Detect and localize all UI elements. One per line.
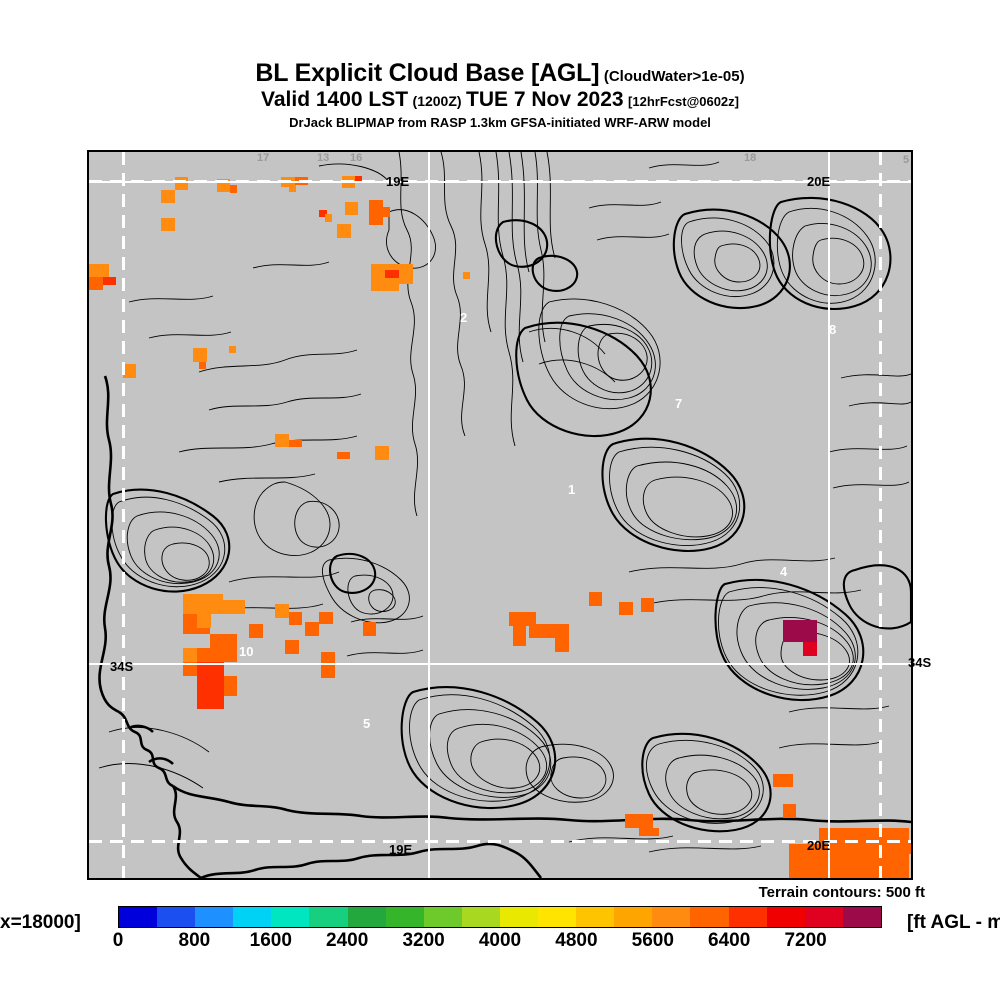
colorbar-tick-800: 800 xyxy=(179,930,211,952)
faint-label-13: 13 xyxy=(317,152,329,164)
cloud-cell xyxy=(197,614,211,628)
title-cloudwater-threshold: (CloudWater>1e-05) xyxy=(604,68,745,85)
colorbar-right-text: [ft AGL - m xyxy=(907,912,1000,934)
cloud-cell xyxy=(249,624,263,638)
colorbar-tick-4800: 4800 xyxy=(555,930,597,952)
site-label-10: 10 xyxy=(239,644,253,659)
colorbar-segment-11 xyxy=(538,907,576,927)
cloud-cell xyxy=(369,200,383,225)
cloud-cell xyxy=(289,440,302,447)
cloud-cell xyxy=(639,828,659,836)
cloud-cell xyxy=(161,218,175,231)
domain-box-left xyxy=(122,152,125,878)
valid-time-utc: (1200Z) xyxy=(413,93,462,109)
colorbar-segment-6 xyxy=(348,907,386,927)
domain-box-bottom xyxy=(89,840,911,843)
cloud-cell xyxy=(305,622,319,636)
cloud-cell xyxy=(641,598,654,612)
cloud-cell xyxy=(375,446,389,460)
cloud-cell xyxy=(103,277,116,285)
cloud-cell xyxy=(555,638,569,652)
cloud-cell xyxy=(161,190,175,203)
cloud-cell xyxy=(773,774,793,787)
cloud-cell xyxy=(385,270,399,278)
cloud-cell xyxy=(183,594,223,614)
faint-label-18: 18 xyxy=(744,152,756,164)
cloud-cell xyxy=(819,828,909,878)
cloud-cell xyxy=(210,634,237,648)
colorbar-tick-7200: 7200 xyxy=(784,930,826,952)
cloud-cell xyxy=(337,224,351,238)
title-line-1: BL Explicit Cloud Base [AGL] (CloudWater… xyxy=(0,60,1000,86)
forecast-run-info: [12hrFcst@0602z] xyxy=(628,94,739,109)
colorbar-segment-14 xyxy=(652,907,690,927)
cloud-cell xyxy=(175,177,188,190)
cloud-cell xyxy=(229,346,236,353)
cloud-cell xyxy=(183,648,197,662)
cloud-cell xyxy=(783,620,817,642)
faint-label-16: 16 xyxy=(350,152,362,164)
cloud-cell xyxy=(619,602,633,615)
cloud-cell xyxy=(197,662,224,696)
cloud-cell xyxy=(89,277,103,290)
colorbar-segment-5 xyxy=(309,907,347,927)
colorbar-segment-10 xyxy=(500,907,538,927)
cloud-cell xyxy=(230,185,237,193)
cloud-cell xyxy=(589,592,602,606)
map-frame[interactable]: 17 13 16 18 5 19E 20E 19E 20E 2 7 8 1 4 … xyxy=(87,150,913,880)
colorbar-tick-1600: 1600 xyxy=(250,930,292,952)
colorbar-segment-15 xyxy=(690,907,728,927)
cloud-cell xyxy=(289,185,296,192)
cloud-cell xyxy=(275,434,289,447)
site-label-2: 2 xyxy=(460,310,467,325)
cloud-cell xyxy=(197,696,224,709)
site-label-1: 1 xyxy=(568,482,575,497)
colorbar-tick-3200: 3200 xyxy=(402,930,444,952)
cloud-cell xyxy=(509,612,536,626)
cloud-cell xyxy=(463,272,470,279)
colorbar-tick-5600: 5600 xyxy=(632,930,674,952)
colorbar-segment-17 xyxy=(767,907,805,927)
domain-box-top xyxy=(89,180,911,183)
title-block: BL Explicit Cloud Base [AGL] (CloudWater… xyxy=(0,60,1000,130)
graticule-label-19E-bottom: 19E xyxy=(389,842,412,857)
colorbar-segment-12 xyxy=(576,907,614,927)
colorbar-segment-7 xyxy=(386,907,424,927)
faint-label-5: 5 xyxy=(903,154,909,166)
colorbar-segment-9 xyxy=(462,907,500,927)
site-label-7: 7 xyxy=(675,396,682,411)
colorbar-tick-2400: 2400 xyxy=(326,930,368,952)
map-canvas xyxy=(89,152,911,878)
site-label-4: 4 xyxy=(780,564,787,579)
cloud-cell xyxy=(193,348,207,362)
title-line-2: Valid 1400 LST (1200Z) TUE 7 Nov 2023 [1… xyxy=(0,88,1000,112)
colorbar-segment-0 xyxy=(119,907,157,927)
graticule-label-20E-bottom: 20E xyxy=(807,838,830,853)
model-attribution: DrJack BLIPMAP from RASP 1.3km GFSA-init… xyxy=(0,115,1000,130)
domain-box-right xyxy=(879,152,882,878)
cloud-cell xyxy=(783,804,796,818)
cloud-cell xyxy=(529,624,569,638)
colorbar-segment-13 xyxy=(614,907,652,927)
cloud-cell xyxy=(285,640,299,654)
cloud-cell xyxy=(383,207,390,217)
colorbar-segment-4 xyxy=(271,907,309,927)
valid-time-local: Valid 1400 LST xyxy=(261,88,408,111)
graticule-label-19E-top: 19E xyxy=(386,174,409,189)
page-title: BL Explicit Cloud Base [AGL] xyxy=(255,59,599,87)
colorbar-segment-18 xyxy=(805,907,843,927)
colorbar-tick-4000: 4000 xyxy=(479,930,521,952)
colorbar-segment-16 xyxy=(729,907,767,927)
colorbar-tick-labels: 080016002400320040004800560064007200 xyxy=(118,930,882,954)
cloud-cell xyxy=(89,264,109,277)
cloud-cell xyxy=(901,842,911,854)
colorbar-segment-3 xyxy=(233,907,271,927)
site-label-5: 5 xyxy=(363,716,370,731)
cloud-cell xyxy=(371,284,399,291)
colorbar-left-text: x=18000] xyxy=(0,912,81,934)
colorbar[interactable] xyxy=(118,906,882,928)
colorbar-segment-19 xyxy=(843,907,881,927)
colorbar-segment-2 xyxy=(195,907,233,927)
cloud-cell xyxy=(345,202,358,215)
cloud-cell xyxy=(319,612,333,624)
cloud-cell xyxy=(224,676,237,696)
colorbar-segment-8 xyxy=(424,907,462,927)
site-label-8: 8 xyxy=(829,322,836,337)
latitude-label-34S-right: 34S xyxy=(908,655,931,670)
cloud-cell xyxy=(275,604,289,618)
latitude-label-34S-left: 34S xyxy=(110,659,133,674)
cloud-cell xyxy=(337,452,350,459)
cloud-cell xyxy=(199,362,206,369)
valid-date: TUE 7 Nov 2023 xyxy=(466,88,624,111)
cloud-cell xyxy=(803,642,817,656)
colorbar-tick-0: 0 xyxy=(113,930,124,952)
terrain-contour-note: Terrain contours: 500 ft xyxy=(759,884,925,901)
cloud-cell xyxy=(289,612,302,625)
graticule-label-20E-top: 20E xyxy=(807,174,830,189)
cloud-cell xyxy=(325,214,332,222)
cloud-cell xyxy=(197,648,237,662)
faint-label-17: 17 xyxy=(257,152,269,164)
cloud-cell xyxy=(363,622,376,636)
colorbar-tick-6400: 6400 xyxy=(708,930,750,952)
cloud-cell xyxy=(223,600,245,614)
cloud-cell xyxy=(625,814,653,828)
colorbar-segment-1 xyxy=(157,907,195,927)
